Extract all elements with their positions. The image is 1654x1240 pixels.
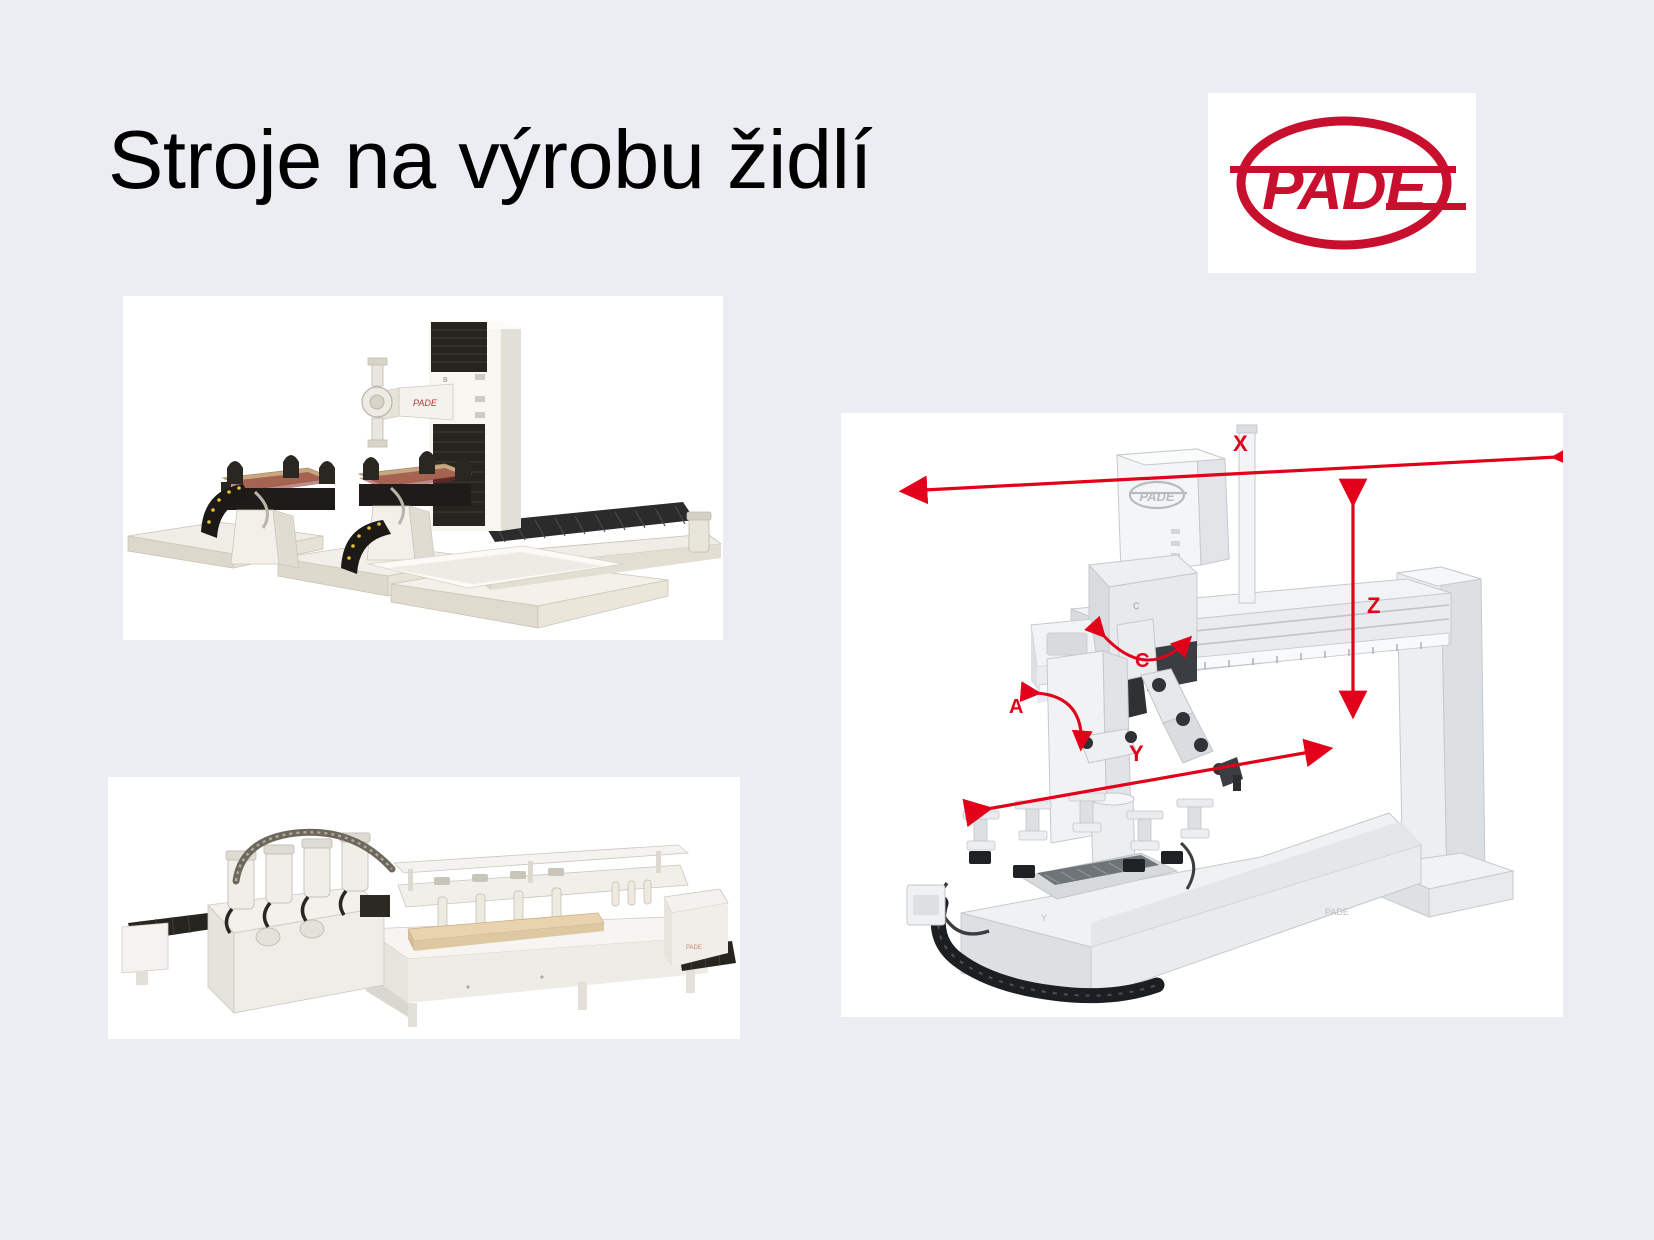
logo-card: PADE (1208, 93, 1476, 273)
svg-text:Y: Y (1041, 913, 1047, 923)
cnc-axes-illustration: PADE (841, 413, 1563, 1017)
axis-label-z: Z (1367, 593, 1380, 618)
axis-label-c: C (1135, 650, 1149, 672)
axis-label-y: Y (1129, 741, 1144, 766)
slide-canvas: Stroje na výrobu židlí PADE (0, 0, 1654, 1240)
svg-text:B: B (443, 377, 448, 384)
svg-text:PADE: PADE (413, 398, 438, 408)
photo-cnc-machine-axes-diagram: PADE (841, 413, 1563, 1017)
svg-text:C: C (1133, 601, 1140, 611)
svg-text:PADE: PADE (1139, 489, 1174, 504)
axis-label-x: X (1233, 431, 1248, 456)
photo-cnc-5-axis-gantry-machine: B PADE (123, 296, 723, 640)
pade-logo-icon: PADE (1208, 93, 1476, 273)
svg-text:PADE: PADE (686, 945, 702, 951)
photo-multi-spindle-boring-machine: PADE (108, 777, 740, 1039)
boring-machine-illustration: PADE (108, 777, 740, 1039)
right-end-cabinet: PADE (664, 889, 728, 967)
page-title: Stroje na výrobu židlí (108, 112, 1108, 208)
axis-label-a: A (1009, 696, 1023, 718)
svg-text:PADE: PADE (1325, 907, 1349, 917)
logo-wordmark: PADE (1262, 154, 1428, 223)
left-service-box (907, 885, 945, 925)
cnc-gantry-illustration: B PADE (123, 296, 723, 640)
